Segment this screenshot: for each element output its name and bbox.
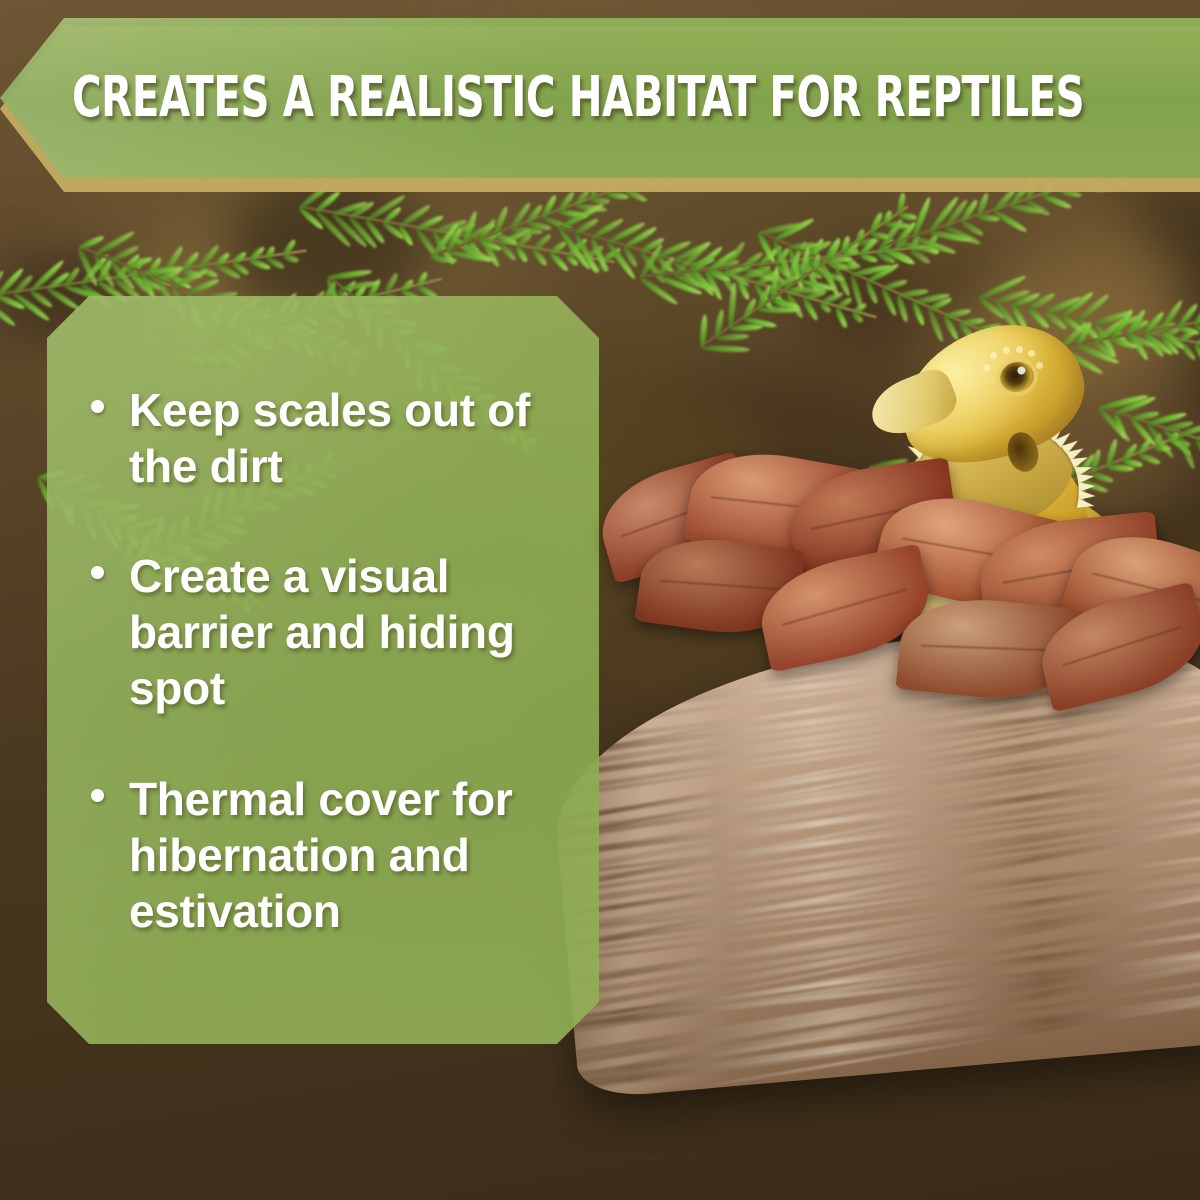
feature-card-root: CREATES A REALISTIC HABITAT FOR REPTILES… bbox=[0, 0, 1200, 1200]
header-banner: CREATES A REALISTIC HABITAT FOR REPTILES bbox=[0, 18, 1200, 178]
list-item: Keep scales out of the dirt bbox=[91, 382, 569, 494]
foreground-leaf-litter bbox=[0, 985, 1200, 1200]
feature-bullet-panel: Keep scales out of the dirt Create a vis… bbox=[47, 296, 599, 1044]
head-scale-dot bbox=[990, 352, 997, 359]
bullet-dot-icon bbox=[91, 400, 104, 413]
list-item: Create a visual barrier and hiding spot bbox=[91, 548, 569, 716]
page-title: CREATES A REALISTIC HABITAT FOR REPTILES bbox=[72, 70, 1084, 126]
head-scale-dot bbox=[1028, 350, 1035, 357]
bullet-text-3: Thermal cover for hibernation and estiva… bbox=[129, 771, 569, 939]
bullet-dot-icon bbox=[91, 789, 104, 802]
head-scale-dot bbox=[983, 364, 990, 371]
list-item: Thermal cover for hibernation and estiva… bbox=[91, 771, 569, 939]
bullet-text-1: Keep scales out of the dirt bbox=[129, 382, 569, 494]
bullet-text-2: Create a visual barrier and hiding spot bbox=[129, 548, 569, 716]
head-scale-dot bbox=[1003, 347, 1010, 354]
head-scale-dot bbox=[1036, 362, 1043, 369]
head-scale-dot bbox=[1016, 346, 1023, 353]
bullet-dot-icon bbox=[91, 566, 104, 579]
